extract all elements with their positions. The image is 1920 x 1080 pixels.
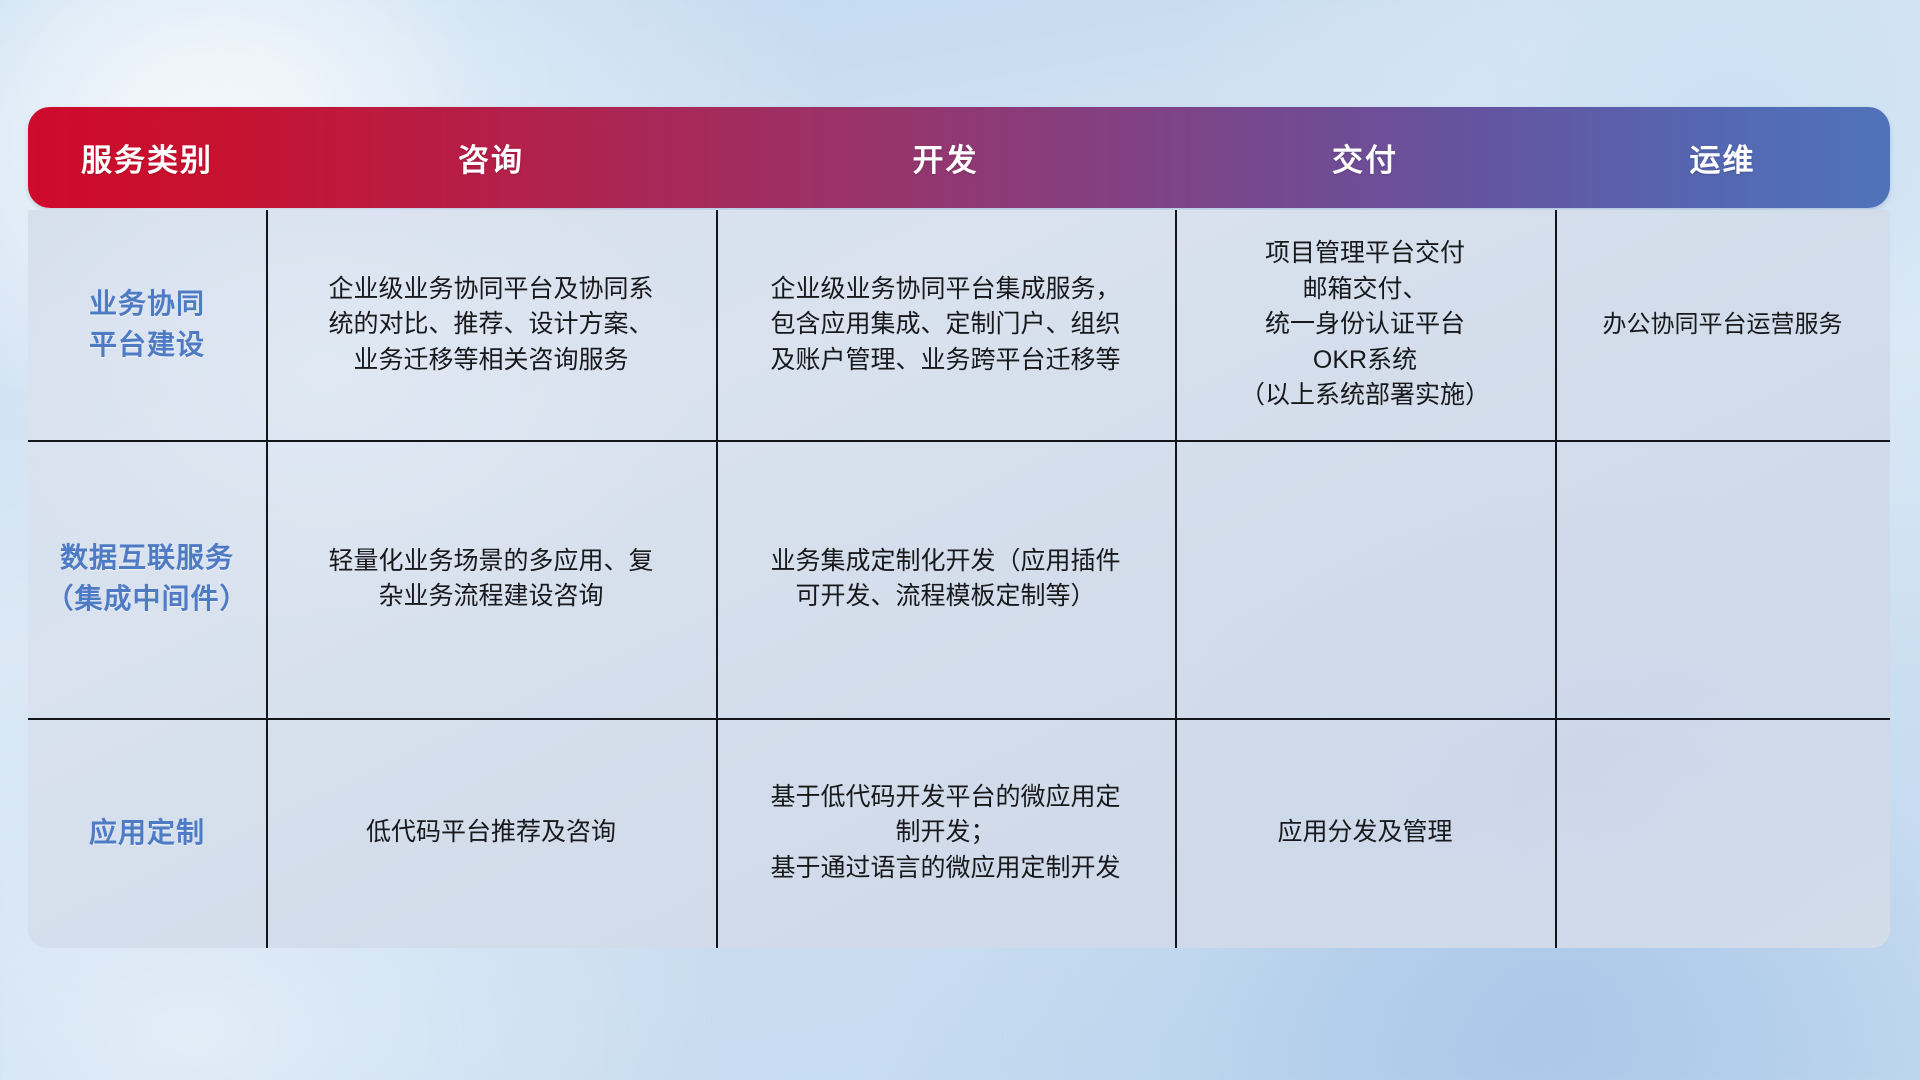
- service-category-table: 服务类别 咨询 开发 交付 运维 业务协同 平台建设 企业级业务协同平台及协同系…: [28, 107, 1890, 948]
- cell-consulting: 低代码平台推荐及咨询: [266, 718, 716, 948]
- cell-delivery: 项目管理平台交付 邮箱交付、 统一身份认证平台 OKR系统 （以上系统部署实施）: [1175, 210, 1555, 440]
- cell-text: 办公协同平台运营服务: [1603, 308, 1843, 342]
- table-row: 数据互联服务 （集成中间件） 轻量化业务场景的多应用、复 杂业务流程建设咨询 业…: [28, 440, 1890, 718]
- cell-development: 企业级业务协同平台集成服务， 包含应用集成、定制门户、组织 及账户管理、业务跨平…: [716, 210, 1175, 440]
- cell-category: 数据互联服务 （集成中间件）: [28, 440, 266, 718]
- cell-consulting: 轻量化业务场景的多应用、复 杂业务流程建设咨询: [266, 440, 716, 718]
- header-cell-category: 服务类别: [28, 107, 266, 208]
- cell-operations: [1555, 718, 1890, 948]
- cell-text: 轻量化业务场景的多应用、复 杂业务流程建设咨询: [328, 544, 653, 615]
- header-cell-delivery: 交付: [1175, 107, 1555, 208]
- table-body: 业务协同 平台建设 企业级业务协同平台及协同系 统的对比、推荐、设计方案、 业务…: [28, 210, 1890, 948]
- table-header-row: 服务类别 咨询 开发 交付 运维: [28, 107, 1890, 208]
- cell-category: 业务协同 平台建设: [28, 210, 266, 440]
- cell-text: 企业级业务协同平台及协同系 统的对比、推荐、设计方案、 业务迁移等相关咨询服务: [328, 272, 653, 379]
- cell-text: 应用分发及管理: [1277, 815, 1452, 851]
- table-row: 应用定制 低代码平台推荐及咨询 基于低代码开发平台的微应用定 制开发； 基于通过…: [28, 718, 1890, 948]
- cell-consulting: 企业级业务协同平台及协同系 统的对比、推荐、设计方案、 业务迁移等相关咨询服务: [266, 210, 716, 440]
- header-cell-operations: 运维: [1555, 107, 1890, 208]
- category-label: 应用定制: [89, 813, 205, 854]
- table-row: 业务协同 平台建设 企业级业务协同平台及协同系 统的对比、推荐、设计方案、 业务…: [28, 210, 1890, 440]
- cell-operations: [1555, 440, 1890, 718]
- category-label: 业务协同 平台建设: [89, 284, 205, 365]
- cell-text: 基于低代码开发平台的微应用定 制开发； 基于通过语言的微应用定制开发: [770, 780, 1120, 887]
- cell-development: 基于低代码开发平台的微应用定 制开发； 基于通过语言的微应用定制开发: [716, 718, 1175, 948]
- cell-operations: 办公协同平台运营服务: [1555, 210, 1890, 440]
- cell-category: 应用定制: [28, 718, 266, 948]
- cell-text: 项目管理平台交付 邮箱交付、 统一身份认证平台 OKR系统 （以上系统部署实施）: [1240, 236, 1490, 414]
- cell-text: 低代码平台推荐及咨询: [366, 815, 616, 851]
- header-cell-development: 开发: [716, 107, 1175, 208]
- header-label-development: 开发: [913, 135, 979, 180]
- header-label-operations: 运维: [1690, 135, 1756, 180]
- header-label-consulting: 咨询: [458, 135, 524, 180]
- header-cell-consulting: 咨询: [266, 107, 716, 208]
- cell-development: 业务集成定制化开发（应用插件 可开发、流程模板定制等）: [716, 440, 1175, 718]
- cell-text: 企业级业务协同平台集成服务， 包含应用集成、定制门户、组织 及账户管理、业务跨平…: [770, 272, 1120, 379]
- header-label-delivery: 交付: [1332, 135, 1398, 180]
- cell-delivery: [1175, 440, 1555, 718]
- cell-delivery: 应用分发及管理: [1175, 718, 1555, 948]
- category-label: 数据互联服务 （集成中间件）: [45, 538, 248, 619]
- header-label-category: 服务类别: [81, 135, 213, 180]
- cell-text: 业务集成定制化开发（应用插件 可开发、流程模板定制等）: [770, 544, 1120, 615]
